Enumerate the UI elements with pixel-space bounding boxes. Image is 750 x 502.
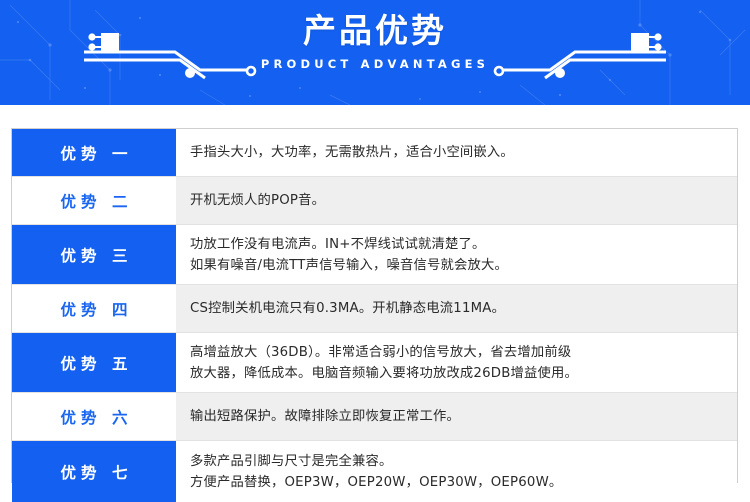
table-row: 优势 二 开机无烦人的POP音。: [12, 177, 737, 225]
description-line: 开机无烦人的POP音。: [190, 190, 727, 211]
table-row: 优势 五 高增益放大（36DB）。非常适合弱小的信号放大，省去增加前级 放大器，…: [12, 333, 737, 393]
table-row: 优势 六 输出短路保护。故障排除立即恢复正常工作。: [12, 393, 737, 441]
description-line: 多款产品引脚与尺寸是完全兼容。: [190, 451, 727, 472]
advantage-description: 多款产品引脚与尺寸是完全兼容。 方便产品替换，OEP3W，OEP20W，OEP3…: [176, 441, 737, 502]
advantages-table: 优势 一 手指头大小，大功率，无需散热片，适合小空间嵌入。 优势 二 开机无烦人…: [11, 128, 738, 483]
table-row: 优势 三 功放工作没有电流声。IN+不焊线试试就清楚了。 如果有噪音/电流TT声…: [12, 225, 737, 285]
description-line: 高增益放大（36DB）。非常适合弱小的信号放大，省去增加前级: [190, 342, 727, 363]
page-title: 产品优势: [0, 10, 750, 52]
description-line: 输出短路保护。故障排除立即恢复正常工作。: [190, 406, 727, 427]
advantage-label: 优势 三: [12, 225, 176, 284]
page-subtitle: PRODUCT ADVANTAGES: [0, 57, 750, 71]
table-row: 优势 四 CS控制关机电流只有0.3MA。开机静态电流11MA。: [12, 285, 737, 333]
description-line: 放大器，降低成本。电脑音频输入要将功放改成26DB增益使用。: [190, 363, 727, 384]
advantage-description: 手指头大小，大功率，无需散热片，适合小空间嵌入。: [176, 129, 737, 176]
advantage-label: 优势 四: [12, 285, 176, 332]
advantage-label: 优势 二: [12, 177, 176, 224]
table-row: 优势 七 多款产品引脚与尺寸是完全兼容。 方便产品替换，OEP3W，OEP20W…: [12, 441, 737, 502]
description-line: CS控制关机电流只有0.3MA。开机静态电流11MA。: [190, 298, 727, 319]
description-line: 手指头大小，大功率，无需散热片，适合小空间嵌入。: [190, 142, 727, 163]
description-line: 如果有噪音/电流TT声信号输入，噪音信号就会放大。: [190, 255, 727, 276]
advantage-label: 优势 六: [12, 393, 176, 440]
description-line: 方便产品替换，OEP3W，OEP20W，OEP30W，OEP60W。: [190, 472, 727, 493]
advantage-description: 功放工作没有电流声。IN+不焊线试试就清楚了。 如果有噪音/电流TT声信号输入，…: [176, 225, 737, 284]
advantage-label: 优势 七: [12, 441, 176, 502]
advantage-description: 输出短路保护。故障排除立即恢复正常工作。: [176, 393, 737, 440]
table-row: 优势 一 手指头大小，大功率，无需散热片，适合小空间嵌入。: [12, 129, 737, 177]
description-line: 功放工作没有电流声。IN+不焊线试试就清楚了。: [190, 234, 727, 255]
advantage-description: 开机无烦人的POP音。: [176, 177, 737, 224]
advantage-label: 优势 一: [12, 129, 176, 176]
advantage-description: 高增益放大（36DB）。非常适合弱小的信号放大，省去增加前级 放大器，降低成本。…: [176, 333, 737, 392]
page-banner: 产品优势 PRODUCT ADVANTAGES: [0, 0, 750, 105]
advantage-description: CS控制关机电流只有0.3MA。开机静态电流11MA。: [176, 285, 737, 332]
advantage-label: 优势 五: [12, 333, 176, 392]
banner-heading-group: 产品优势 PRODUCT ADVANTAGES: [0, 10, 750, 71]
